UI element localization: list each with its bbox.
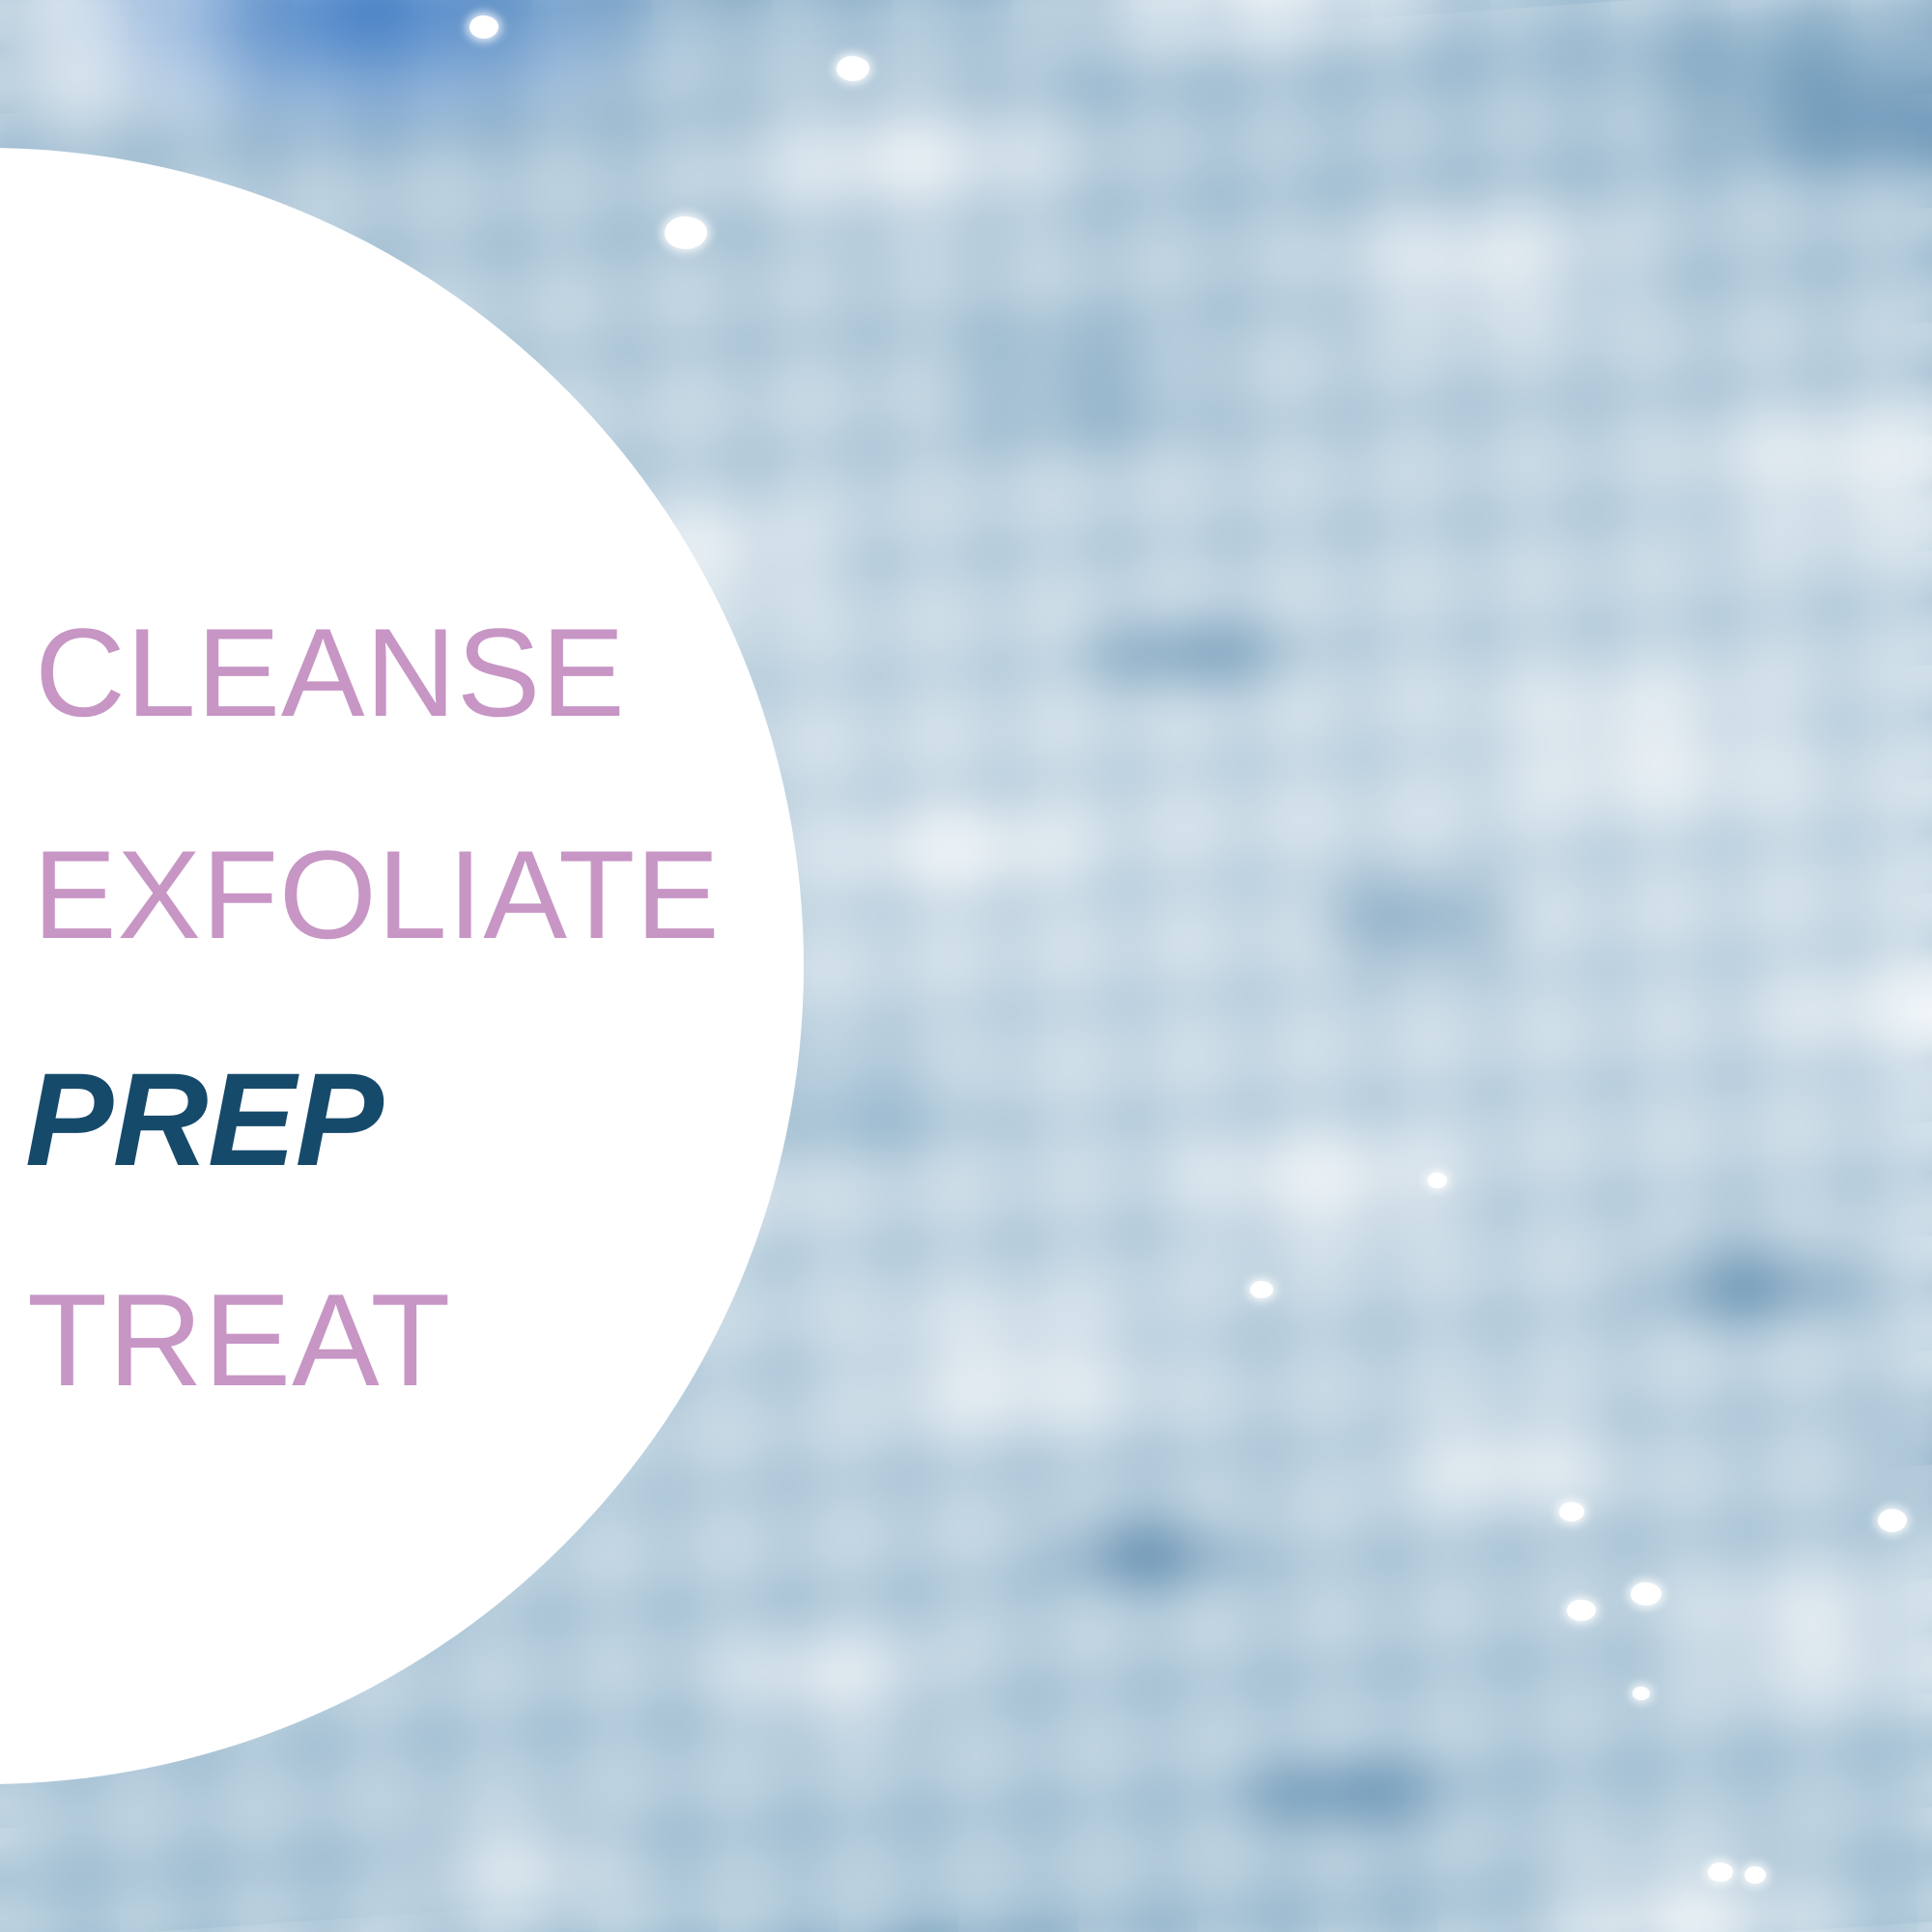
water-sparkle-icon bbox=[1878, 1509, 1907, 1532]
routine-step-exfoliate: EXFOLIATE bbox=[33, 832, 720, 957]
water-sparkle-icon bbox=[469, 15, 498, 39]
poster-canvas: CLEANSE EXFOLIATE PREP TREAT bbox=[0, 0, 1932, 1932]
routine-step-prep: PREP bbox=[25, 1054, 383, 1186]
water-sparkle-icon bbox=[1428, 1173, 1447, 1188]
routine-step-cleanse: CLEANSE bbox=[35, 610, 625, 735]
water-sparkle-icon bbox=[1745, 1866, 1766, 1884]
water-sparkle-icon bbox=[837, 56, 869, 81]
water-sparkle-icon bbox=[1631, 1582, 1662, 1605]
water-sparkle-icon bbox=[1559, 1502, 1584, 1521]
water-sparkle-icon bbox=[1567, 1600, 1596, 1621]
routine-steps-list: CLEANSE EXFOLIATE PREP TREAT bbox=[0, 148, 804, 1784]
water-sparkle-icon bbox=[1708, 1862, 1733, 1882]
white-circle-panel: CLEANSE EXFOLIATE PREP TREAT bbox=[0, 148, 804, 1784]
routine-step-treat: TREAT bbox=[27, 1274, 451, 1406]
water-sparkle-icon bbox=[1633, 1687, 1650, 1700]
water-sparkle-icon bbox=[1250, 1281, 1273, 1298]
